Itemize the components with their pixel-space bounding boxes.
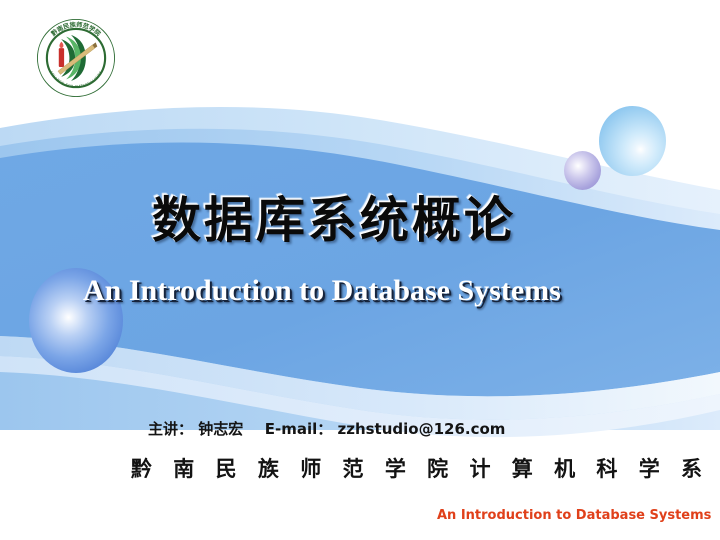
presenter-name: 钟志宏 xyxy=(198,420,243,438)
department-line: 黔 南 民 族 师 范 学 院 计 算 机 科 学 系 xyxy=(131,453,709,483)
presenter-label: 主讲： xyxy=(148,420,193,438)
email-address: zzhstudio@126.com xyxy=(337,420,505,438)
slide-footer: An Introduction to Database Systems xyxy=(437,508,711,523)
sphere-large-top-right xyxy=(599,106,666,176)
college-seal-logo: 黔南民族师范学院 COLLEGE FOR NATIONALITIES xyxy=(31,17,121,99)
presenter-line: 主讲： 钟志宏 E-mail： zzhstudio@126.com xyxy=(148,418,505,439)
sphere-small-top-right xyxy=(564,151,601,190)
slide-title-english: An Introduction to Database Systems xyxy=(83,276,561,306)
email-label: E-mail： xyxy=(265,420,333,438)
seal-torch xyxy=(59,42,64,67)
slide-title-chinese: 数据库系统概论 xyxy=(152,196,516,245)
presentation-slide: 黔南民族师范学院 COLLEGE FOR NATIONALITIES 数据库系统… xyxy=(0,0,720,540)
